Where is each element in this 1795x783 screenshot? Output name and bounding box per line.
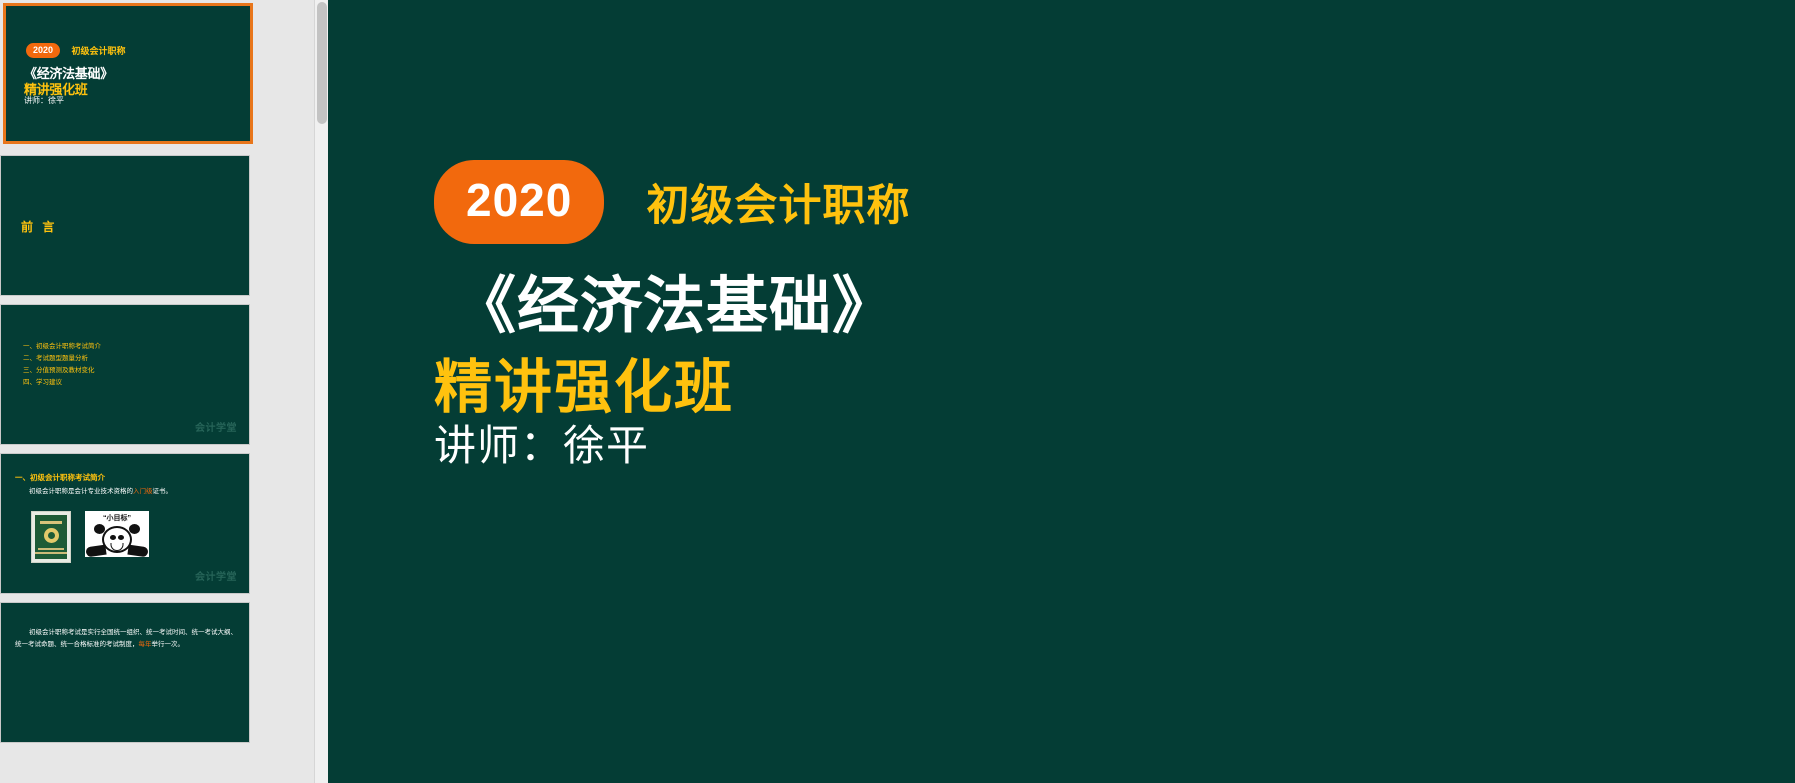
panda-mouth <box>111 543 124 551</box>
panda-ear-right <box>129 524 140 534</box>
thumb5-body-highlight: 每年 <box>139 641 152 648</box>
thumb4-body-after: 证书。 <box>153 488 173 495</box>
thumb1-header-subtitle: 初级会计职称 <box>71 44 125 57</box>
thumb4-watermark: 会计学堂 <box>195 568 237 583</box>
certificate-line-1 <box>38 548 64 550</box>
thumb3-watermark: 会计学堂 <box>195 419 237 434</box>
list-item: 三、分值预测及教材变化 <box>23 365 101 377</box>
thumb4-image-group: “小目标” <box>31 511 149 563</box>
thumb5-body-after: 举行一次。 <box>152 641 185 648</box>
thumb3-outline-list: 一、初级会计职称考试简介 二、考试题型题量分析 三、分值预测及教材变化 四、学习… <box>23 341 101 389</box>
slide-thumbnail-2-canvas: 前 言 <box>0 155 250 296</box>
slide-thumbnail-3-canvas: 一、初级会计职称考试简介 二、考试题型题量分析 三、分值预测及教材变化 四、学习… <box>0 304 250 445</box>
certificate-top-line <box>40 521 62 524</box>
slide-thumbnail-5[interactable]: 初级会计职称考试是实行全国统一组织、统一考试时间、统一考试大纲、统一考试命题、统… <box>0 602 250 743</box>
year-badge: 2020 <box>434 160 604 244</box>
thumb1-year-badge: 2020 <box>26 43 60 58</box>
panda-arm-right <box>127 545 148 557</box>
slide-lecturer: 讲师：徐平 <box>434 412 649 473</box>
thumb4-body-highlight: 入门级 <box>133 488 153 495</box>
powerpoint-window: 2020 初级会计职称 《经济法基础》 精讲强化班 讲师：徐平 前 言 <box>0 0 1795 783</box>
slide-thumbnail-5-canvas: 初级会计职称考试是实行全国统一组织、统一考试时间、统一考试大纲、统一考试命题、统… <box>0 602 250 743</box>
slide-thumbnail-2[interactable]: 前 言 <box>0 155 250 296</box>
list-item: 二、考试题型题量分析 <box>23 353 101 365</box>
thumb5-body: 初级会计职称考试是实行全国统一组织、统一考试时间、统一考试大纲、统一考试命题、统… <box>15 627 237 651</box>
thumb4-body: 初级会计职称是会计专业技术资格的入门级证书。 <box>15 487 235 497</box>
certificate-inner <box>35 515 67 559</box>
sidebar-scrollbar-thumb[interactable] <box>317 2 327 124</box>
thumb5-body-before: 初级会计职称考试是实行全国统一组织、统一考试时间、统一考试大纲、统一考试命题、统… <box>15 629 237 648</box>
thumb4-heading: 一、初级会计职称考试简介 <box>15 472 105 483</box>
panda-face <box>102 526 132 553</box>
panda-eye-left <box>110 535 116 540</box>
slide-thumbnail-1-canvas: 2020 初级会计职称 《经济法基础》 精讲强化班 讲师：徐平 <box>3 3 253 144</box>
thumb1-lecturer: 讲师：徐平 <box>24 95 64 106</box>
slide-thumbnail-sidebar[interactable]: 2020 初级会计职称 《经济法基础》 精讲强化班 讲师：徐平 前 言 <box>0 0 328 783</box>
list-item: 一、初级会计职称考试简介 <box>23 341 101 353</box>
slide-canvas[interactable]: 2020 初级会计职称 《经济法基础》 精讲强化班 讲师：徐平 <box>328 0 1795 783</box>
thumb1-header-row: 2020 初级会计职称 <box>26 42 126 60</box>
national-emblem-icon <box>44 528 59 543</box>
slide-thumbnail-3[interactable]: 一、初级会计职称考试简介 二、考试题型题量分析 三、分值预测及教材变化 四、学习… <box>0 304 250 445</box>
slide-header-row: 2020 初级会计职称 <box>434 160 910 244</box>
certificate-line-2 <box>35 552 67 554</box>
panda-meme-image: “小目标” <box>85 511 149 557</box>
certificate-image <box>31 511 71 563</box>
thumb2-title: 前 言 <box>21 218 57 235</box>
slide-thumbnail-list: 2020 初级会计职称 《经济法基础》 精讲强化班 讲师：徐平 前 言 <box>0 0 300 751</box>
slide-thumbnail-4[interactable]: 一、初级会计职称考试简介 初级会计职称是会计专业技术资格的入门级证书。 <box>0 453 250 594</box>
header-subtitle: 初级会计职称 <box>646 171 910 233</box>
thumb4-body-before: 初级会计职称是会计专业技术资格的 <box>29 488 133 495</box>
panda-eye-right <box>118 535 124 540</box>
sidebar-scrollbar[interactable] <box>314 0 328 783</box>
slide-thumbnail-1[interactable]: 2020 初级会计职称 《经济法基础》 精讲强化班 讲师：徐平 <box>0 0 250 147</box>
panda-meme-caption: “小目标” <box>85 513 149 523</box>
slide-title: 《经济法基础》 <box>454 255 895 345</box>
slide-thumbnail-4-canvas: 一、初级会计职称考试简介 初级会计职称是会计专业技术资格的入门级证书。 <box>0 453 250 594</box>
list-item: 四、学习建议 <box>23 377 101 389</box>
